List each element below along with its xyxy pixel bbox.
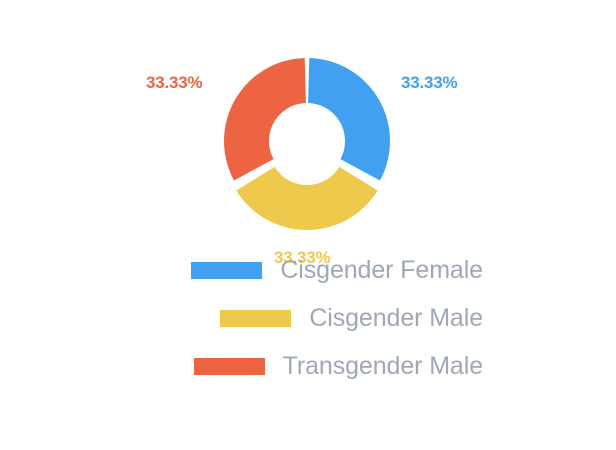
donut-chart: 33.33% 33.33% 33.33% Cisgender Female Ci… (0, 0, 616, 450)
value-label-transgender-male: 33.33% (146, 74, 202, 91)
donut-slice-group (224, 58, 390, 230)
legend-item-cisgender-male[interactable]: Cisgender Male (0, 294, 616, 342)
legend-label-cisgender-male: Cisgender Male (309, 304, 483, 333)
slice-transgender-male[interactable] (224, 58, 306, 180)
legend-label-cisgender-female: Cisgender Female (280, 256, 483, 285)
legend-label-transgender-male: Transgender Male (283, 352, 483, 381)
slice-cisgender-male[interactable] (236, 167, 377, 230)
value-label-cisgender-female: 33.33% (401, 74, 457, 91)
slice-cisgender-female[interactable] (308, 58, 390, 180)
legend-swatch-cisgender-female (191, 262, 262, 279)
legend-swatch-transgender-male (194, 358, 265, 375)
legend: Cisgender Female Cisgender Male Transgen… (0, 246, 616, 390)
legend-swatch-cisgender-male (220, 310, 291, 327)
legend-item-cisgender-female[interactable]: Cisgender Female (0, 246, 616, 294)
legend-item-transgender-male[interactable]: Transgender Male (0, 342, 616, 390)
